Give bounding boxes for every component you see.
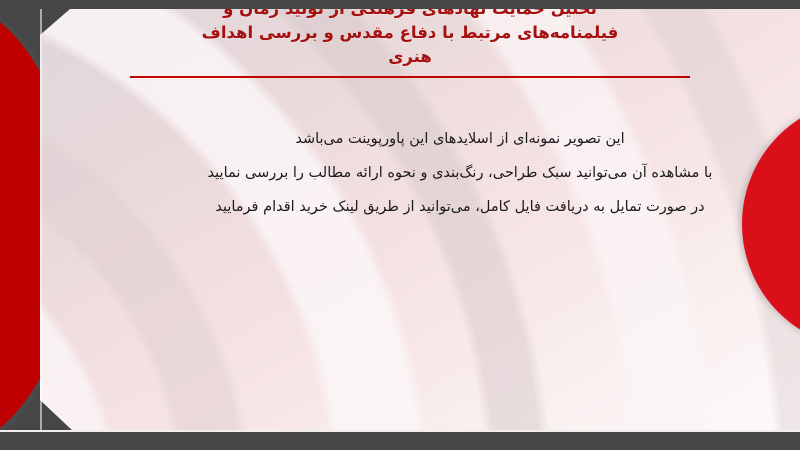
slide-title-line-3: هنری: [120, 45, 700, 69]
body-line-3: در صورت تمایل به دریافت فایل کامل، می‌تو…: [150, 190, 770, 224]
body-line-1: این تصویر نمونه‌ای از اسلایدهای این پاور…: [150, 122, 770, 156]
title-divider-rule: [130, 76, 690, 78]
frame-bottom-highlight: [0, 430, 800, 432]
slide-body-text: این تصویر نمونه‌ای از اسلایدهای این پاور…: [150, 122, 770, 224]
body-line-2: با مشاهده آن می‌توانید سبک طراحی، رنگ‌بن…: [150, 156, 770, 190]
frame-bottom-bar: [0, 432, 800, 450]
slide-title: تحلیل حمایت نهادهای فرهنگی از تولید رمان…: [120, 0, 700, 69]
frame-top-bar: [0, 0, 800, 9]
slide-title-line-2: فیلمنامه‌های مرتبط با دفاع مقدس و بررسی …: [120, 21, 700, 45]
slide-canvas: تحلیل حمایت نهادهای فرهنگی از تولید رمان…: [0, 0, 800, 450]
panel-left-edge-highlight: [40, 9, 42, 432]
